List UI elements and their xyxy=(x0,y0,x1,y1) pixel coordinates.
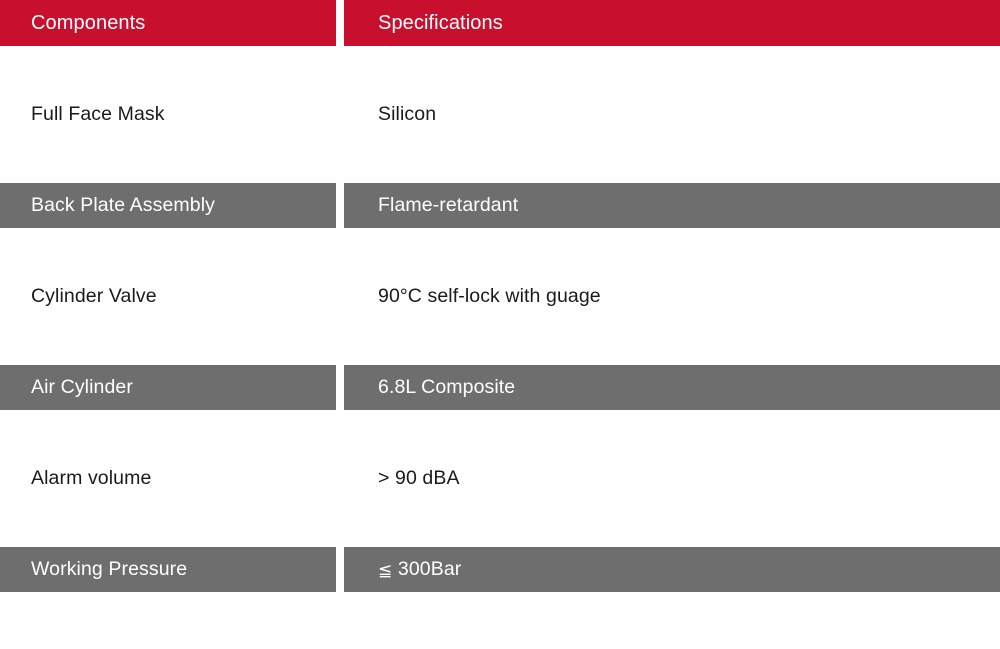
row-separator-cell xyxy=(336,501,344,547)
row-separator-cell xyxy=(344,410,1000,456)
row-separator-cell xyxy=(336,137,344,183)
row-separator xyxy=(0,319,1000,365)
row-separator xyxy=(0,501,1000,547)
cell-specification: > 90 dBA xyxy=(344,456,1000,502)
column-gap xyxy=(336,365,344,411)
row-separator-cell xyxy=(0,592,336,638)
table-row: Back Plate AssemblyFlame-retardant xyxy=(0,183,1000,229)
row-separator-cell xyxy=(336,228,344,274)
cell-component: Back Plate Assembly xyxy=(0,183,336,229)
specification-sheet: Components Specifications Full Face Mask… xyxy=(0,0,1000,649)
table-body: Components Specifications Full Face Mask… xyxy=(0,0,1000,649)
row-separator-cell xyxy=(344,137,1000,183)
cell-component: Full Face Mask xyxy=(0,92,336,138)
row-separator-cell xyxy=(0,137,336,183)
header-cell-specifications: Specifications xyxy=(344,0,1000,46)
row-separator-cell xyxy=(344,228,1000,274)
row-separator-cell xyxy=(344,501,1000,547)
table-row: Cylinder Valve90°C self-lock with guage xyxy=(0,274,1000,320)
table-row: Full Face MaskSilicon xyxy=(0,92,1000,138)
row-separator-cell xyxy=(0,501,336,547)
cell-component: Cylinder Valve xyxy=(0,274,336,320)
cell-specification: Flame-retardant xyxy=(344,183,1000,229)
column-gap xyxy=(336,547,344,593)
row-separator xyxy=(0,410,1000,456)
cell-component: Alarm volume xyxy=(0,456,336,502)
row-separator-cell xyxy=(336,592,344,638)
cell-specification: 90°C self-lock with guage xyxy=(344,274,1000,320)
row-separator-cell xyxy=(336,410,344,456)
row-separator-cell xyxy=(0,46,336,92)
row-separator xyxy=(0,46,1000,92)
table-header-row: Components Specifications xyxy=(0,0,1000,46)
cell-specification: 6.8L Composite xyxy=(344,365,1000,411)
row-separator xyxy=(0,228,1000,274)
column-gap xyxy=(336,0,344,46)
cell-specification: Silicon xyxy=(344,92,1000,138)
row-separator-cell xyxy=(0,319,336,365)
specification-table: Components Specifications Full Face Mask… xyxy=(0,0,1000,649)
row-separator-cell xyxy=(336,46,344,92)
row-separator-cell xyxy=(344,592,1000,638)
column-gap xyxy=(336,183,344,229)
table-row: Alarm activation55±5Bar xyxy=(0,638,1000,649)
column-gap xyxy=(336,274,344,320)
cell-component: Working Pressure xyxy=(0,547,336,593)
row-separator xyxy=(0,592,1000,638)
table-row: Air Cylinder6.8L Composite xyxy=(0,365,1000,411)
row-separator-cell xyxy=(0,410,336,456)
less-than-or-equal-icon: ≦ xyxy=(378,561,392,581)
table-row: Alarm volume> 90 dBA xyxy=(0,456,1000,502)
cell-component: Alarm activation xyxy=(0,638,336,649)
cell-specification: 55±5Bar xyxy=(344,638,1000,649)
cell-specification: ≦ 300Bar xyxy=(344,547,1000,593)
row-separator-cell xyxy=(344,319,1000,365)
cell-component: Air Cylinder xyxy=(0,365,336,411)
row-separator-cell xyxy=(336,319,344,365)
row-separator-cell xyxy=(344,46,1000,92)
row-separator xyxy=(0,137,1000,183)
row-separator-cell xyxy=(0,228,336,274)
header-cell-components: Components xyxy=(0,0,336,46)
table-row: Working Pressure≦ 300Bar xyxy=(0,547,1000,593)
column-gap xyxy=(336,456,344,502)
column-gap xyxy=(336,92,344,138)
column-gap xyxy=(336,638,344,649)
